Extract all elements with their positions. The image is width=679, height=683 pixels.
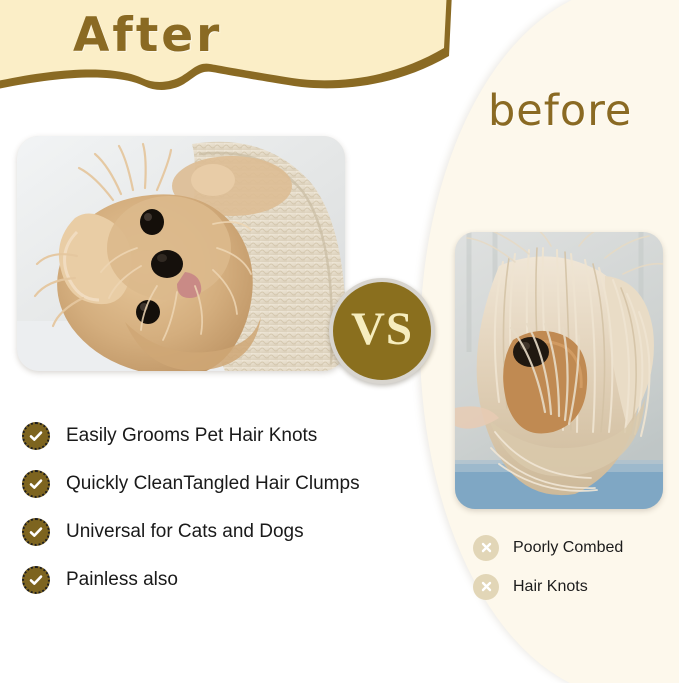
list-item: Painless also: [22, 556, 392, 604]
check-circle-icon: [22, 518, 50, 546]
list-item: Universal for Cats and Dogs: [22, 508, 392, 556]
after-photo: [17, 136, 345, 371]
list-item: Hair Knots: [473, 567, 673, 606]
list-item: Poorly Combed: [473, 528, 673, 567]
x-circle-icon: [473, 535, 499, 561]
x-circle-icon: [473, 574, 499, 600]
check-circle-icon: [22, 566, 50, 594]
benefit-label: Painless also: [66, 569, 178, 591]
benefit-label: Universal for Cats and Dogs: [66, 521, 304, 543]
check-circle-icon: [22, 470, 50, 498]
before-photo: [455, 232, 663, 509]
vs-badge-label: VS: [351, 306, 413, 356]
after-banner: [0, 0, 454, 110]
comparison-infographic: After before VS Easily Grooms Pet Hair K…: [0, 0, 679, 683]
list-item: Easily Grooms Pet Hair Knots: [22, 412, 392, 460]
vs-badge: VS: [329, 278, 435, 384]
drawbacks-list: Poorly Combed Hair Knots: [473, 528, 673, 606]
page-title-before: before: [488, 86, 632, 136]
page-title-after: After: [73, 8, 222, 63]
benefit-label: Quickly CleanTangled Hair Clumps: [66, 473, 360, 495]
drawback-label: Poorly Combed: [513, 539, 623, 557]
list-item: Quickly CleanTangled Hair Clumps: [22, 460, 392, 508]
benefits-list: Easily Grooms Pet Hair Knots Quickly Cle…: [22, 412, 392, 604]
drawback-label: Hair Knots: [513, 578, 588, 596]
benefit-label: Easily Grooms Pet Hair Knots: [66, 425, 317, 447]
check-circle-icon: [22, 422, 50, 450]
